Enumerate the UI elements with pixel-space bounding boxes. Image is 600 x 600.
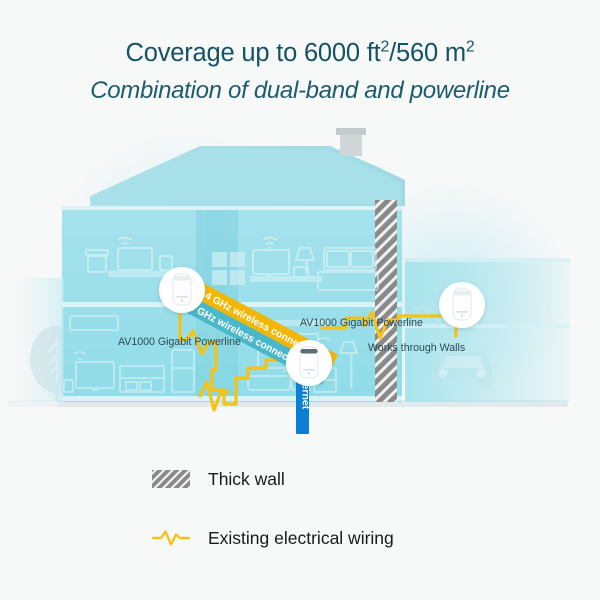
- floor-lamp-pole: [350, 353, 353, 389]
- hatch-swatch-icon: [152, 470, 190, 488]
- page-title: Coverage up to 6000 ft2/560 m2: [0, 38, 600, 69]
- floor-line-bottom: [62, 396, 402, 401]
- legend-item-electrical-wiring: Existing electrical wiring: [152, 521, 492, 555]
- powerline-label-left: AV1000 Gigabit Powerline: [118, 336, 241, 348]
- page-title-middle: /560 m: [389, 39, 466, 67]
- deco-unit-upstairs-body: [173, 274, 191, 305]
- legend-item-thick-wall: Thick wall: [152, 462, 492, 496]
- tv-stand-upper: [250, 276, 322, 282]
- legend-label-electrical-wiring: Existing electrical wiring: [208, 528, 394, 549]
- deco-unit-garage-body: [453, 289, 471, 320]
- powerline-label-right: AV1000 Gigabit Powerline: [300, 317, 423, 329]
- thick-wall: [375, 200, 397, 402]
- house-diagram-svg: Internet « 2.4 GHz wireless connection »…: [0, 128, 600, 438]
- floor-line-top: [62, 206, 402, 210]
- through-walls-label: Works through Walls: [368, 342, 465, 354]
- page-title-superscript-sqft: 2: [381, 39, 390, 56]
- house-diagram: Internet « 2.4 GHz wireless connection »…: [0, 128, 600, 438]
- legend: Thick wall Existing electrical wiring: [152, 462, 492, 555]
- heading-block: Coverage up to 6000 ft2/560 m2 Combinati…: [0, 38, 600, 106]
- page-title-prefix: Coverage up to 6000 ft: [126, 39, 381, 67]
- chimney-cap: [336, 128, 366, 135]
- deco-unit-main-body: [300, 347, 318, 378]
- legend-label-thick-wall: Thick wall: [208, 469, 285, 490]
- page-subtitle: Combination of dual-band and powerline: [0, 76, 600, 106]
- zigzag-wire-icon: [152, 529, 190, 547]
- page-title-superscript-sqm: 2: [466, 39, 475, 56]
- left-wing-block: [20, 278, 64, 402]
- garage-roof-line: [405, 258, 570, 262]
